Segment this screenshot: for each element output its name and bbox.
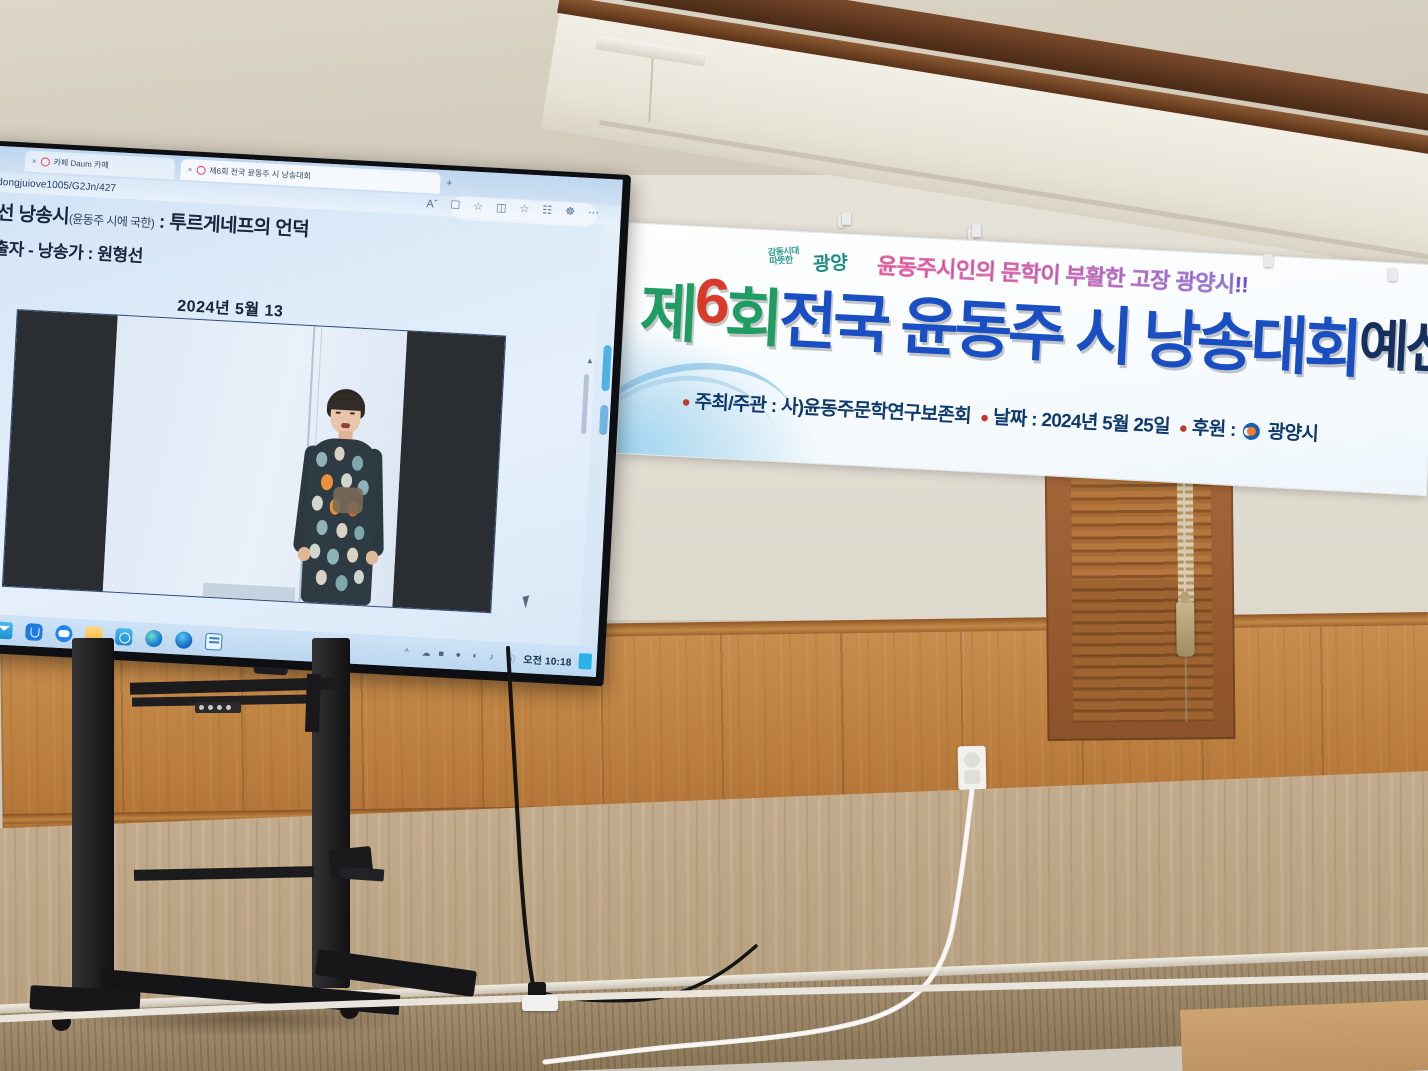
- cart-caster-wheel-2: [52, 1012, 71, 1031]
- favorites-icon[interactable]: ☆: [519, 202, 530, 216]
- video-letterbox-right: [392, 331, 505, 612]
- banner-title-part-1: 6: [693, 265, 728, 339]
- banner-clip-3: [1264, 254, 1273, 267]
- dress-dot: [334, 447, 345, 462]
- banner-title-part-4: 예선 영상심사: [1357, 299, 1428, 394]
- video-floor-line: [203, 583, 296, 602]
- figure-hand-right: [366, 550, 379, 565]
- gwangyang-city-mark-icon: [1243, 422, 1261, 440]
- banner-sponsor-value: 광양시: [1267, 422, 1318, 446]
- page-scrollbar-thumb[interactable]: [581, 374, 589, 434]
- dress-dot: [315, 570, 327, 586]
- wooden-venetian-blinds[interactable]: [1071, 451, 1214, 722]
- tab-favicon-2: [196, 166, 205, 175]
- banner-title-part-2: 회: [723, 266, 782, 360]
- side-panel-accent-2: [599, 405, 609, 435]
- figure-eye-right: [350, 412, 355, 414]
- collections-icon[interactable]: ☷: [542, 203, 553, 217]
- dress-dot: [347, 547, 359, 563]
- reciter-figure: [292, 387, 390, 606]
- tv-screen[interactable]: × 카페 Daum 카페 × 제6회 전국 윤동주 시 낭송대회 + et/do…: [0, 145, 623, 677]
- event-banner: 감동시대 따뜻한 광양 윤동주시인의 문학이 부활한 고장 광양시!! 제6회 …: [616, 222, 1428, 496]
- cart-foot-left: [29, 985, 140, 1015]
- new-tab-button[interactable]: +: [446, 178, 452, 189]
- page-heading-tail: : 투르게네프의 언덕: [158, 212, 309, 241]
- cart-power-strip: [195, 702, 241, 713]
- cart-mount-bracket: [305, 674, 321, 732]
- mouse-cursor: [523, 594, 538, 609]
- dress-dot: [327, 548, 340, 565]
- dress-dot: [311, 495, 323, 511]
- dress-dot: [309, 543, 321, 559]
- scroll-up-arrow-icon[interactable]: ▲: [586, 356, 594, 365]
- video-background-wall: [103, 316, 408, 607]
- banner-clip-2: [972, 224, 981, 237]
- wall-power-outlet[interactable]: [958, 746, 987, 791]
- more-options-icon[interactable]: ⋯: [588, 206, 600, 220]
- split-screen-icon[interactable]: ◫: [496, 201, 507, 215]
- browser-tab-label-1: 카페 Daum 카페: [53, 157, 109, 171]
- cart-caster-wheel-1: [340, 1000, 359, 1019]
- hall-photo-scene: 감동시대 따뜻한 광양 윤동주시인의 문학이 부활한 고장 광양시!! 제6회 …: [0, 0, 1428, 1071]
- display-television[interactable]: × 카페 Daum 카페 × 제6회 전국 윤동주 시 낭송대회 + et/do…: [0, 140, 631, 686]
- figure-eye-left: [336, 412, 341, 414]
- blind-tassel[interactable]: [1176, 601, 1195, 656]
- bullet-dot-1: ●: [681, 394, 690, 411]
- bullet-dot-3: ●: [1178, 420, 1187, 437]
- favorite-star-icon[interactable]: ☆: [473, 200, 484, 214]
- white-cable-adapter: [522, 995, 558, 1011]
- banner-clip-1: [842, 212, 851, 225]
- add-to-collections-icon[interactable]: ☐: [450, 198, 461, 212]
- read-aloud-icon[interactable]: Aˇ: [426, 198, 438, 211]
- video-letterbox-left: [3, 310, 118, 591]
- page-heading-paren: (윤동주 시에 국한): [69, 212, 155, 231]
- banner-clip-4: [1388, 268, 1397, 281]
- dress-dot: [316, 452, 328, 468]
- banner-host-label: 주최/주관 :: [694, 392, 777, 417]
- dress-dot: [336, 523, 348, 539]
- dress-dot: [352, 455, 364, 471]
- dress-dot: [316, 520, 328, 536]
- banner-title-part-0: 제: [638, 262, 697, 356]
- bullet-dot-2: ●: [980, 409, 989, 426]
- cart-mid-rail: [134, 866, 314, 881]
- tab-close-icon-2[interactable]: ×: [187, 165, 192, 174]
- tab-favicon-1: [40, 157, 49, 166]
- address-bar-url: et/dongjuiove1005/G2Jn/427: [0, 176, 116, 194]
- page-heading-line2: 제출자 - 낭송가 : 원형선: [0, 233, 144, 267]
- dress-dot: [354, 570, 365, 585]
- side-panel-accent-1: [601, 345, 611, 391]
- dress-dot: [321, 474, 334, 491]
- tab-close-icon-1[interactable]: ×: [32, 157, 37, 166]
- browser-essentials-icon[interactable]: ☸: [565, 205, 576, 219]
- lower-floor: [1180, 998, 1428, 1071]
- mobile-tv-cart: [40, 630, 620, 1030]
- cart-column-left: [72, 638, 114, 998]
- figure-patterned-dress: [300, 437, 379, 606]
- banner-date-label: 날짜 :: [993, 407, 1038, 430]
- figure-mouth: [341, 423, 350, 428]
- banner-date-value: 2024년 5월 25일: [1041, 410, 1171, 438]
- banner-sponsor-label: 후원 :: [1191, 418, 1236, 441]
- dress-dot: [354, 526, 365, 541]
- video-player[interactable]: [2, 309, 506, 613]
- dress-dot: [335, 575, 348, 592]
- page-date-text: 2024년 5월 13: [177, 292, 284, 322]
- figure-scarf: [332, 487, 363, 515]
- page-heading-main: 본선 낭송시: [0, 202, 70, 228]
- browser-tab-label-2: 제6회 전국 윤동주 시 낭송대회: [209, 165, 311, 181]
- mail-icon[interactable]: [0, 621, 13, 639]
